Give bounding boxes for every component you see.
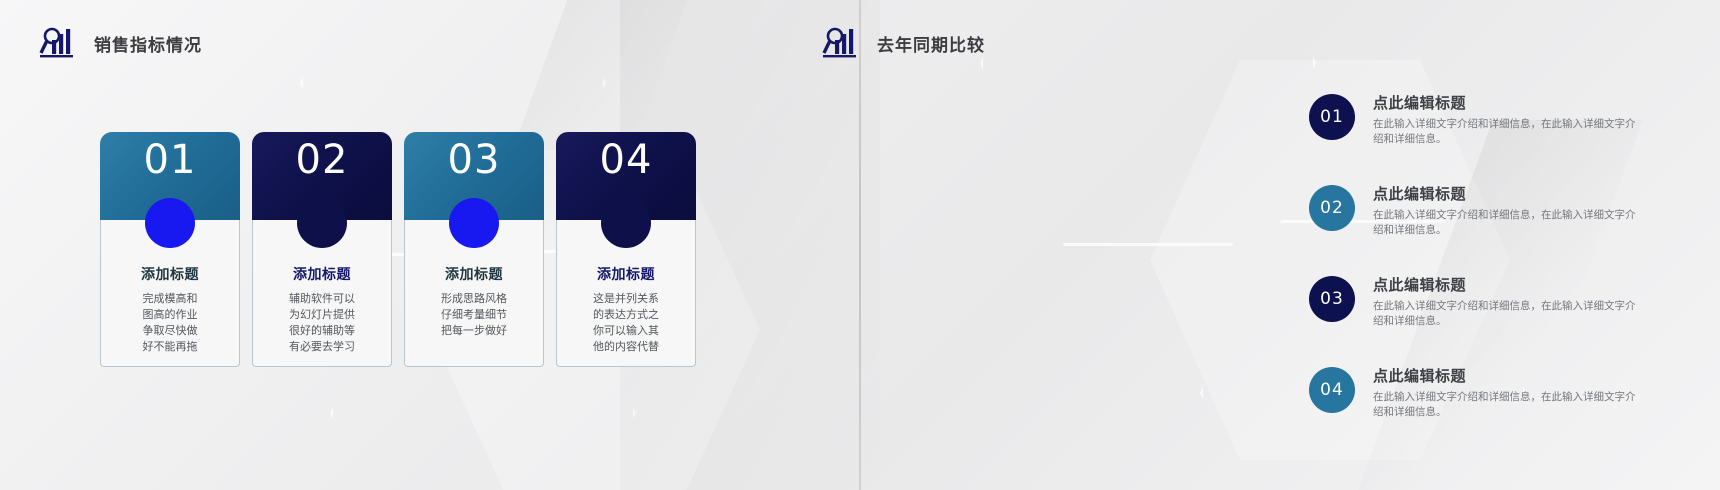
card-04-number: 04 [600, 140, 653, 180]
slide-canvas: 销售指标情况 01 添加标题 完成模高和 图高的作业 争取尽快做 好不能再拖 0… [0, 0, 1720, 490]
left-panel: 销售指标情况 01 添加标题 完成模高和 图高的作业 争取尽快做 好不能再拖 0… [0, 0, 860, 490]
card-01[interactable]: 01 添加标题 完成模高和 图高的作业 争取尽快做 好不能再拖 [100, 132, 240, 367]
left-section-title: 销售指标情况 [94, 31, 202, 56]
left-section-header: 销售指标情况 [38, 24, 202, 62]
list-item[interactable]: 04 点此编辑标题 在此输入详细文字介绍和详细信息，在此输入详细文字介绍和详细信… [1309, 365, 1639, 420]
list-item-desc: 在此输入详细文字介绍和详细信息，在此输入详细文字介绍和详细信息。 [1373, 390, 1639, 420]
list-item-desc: 在此输入详细文字介绍和详细信息，在此输入详细文字介绍和详细信息。 [1373, 299, 1639, 329]
list-item-badge: 03 [1309, 276, 1355, 322]
right-section-title: 去年同期比较 [877, 31, 985, 56]
card-02-text: 辅助软件可以 为幻灯片提供 很好的辅助等 有必要去学习 [289, 291, 355, 355]
list-item-badge: 02 [1309, 185, 1355, 231]
list-item[interactable]: 02 点此编辑标题 在此输入详细文字介绍和详细信息，在此输入详细文字介绍和详细信… [1309, 183, 1639, 238]
card-02[interactable]: 02 添加标题 辅助软件可以 为幻灯片提供 很好的辅助等 有必要去学习 [252, 132, 392, 367]
list-item-text: 点此编辑标题 在此输入详细文字介绍和详细信息，在此输入详细文字介绍和详细信息。 [1373, 92, 1639, 147]
card-02-title: 添加标题 [293, 264, 351, 284]
list-item-title: 点此编辑标题 [1373, 365, 1639, 386]
bar-chart-search-icon [38, 24, 80, 62]
card-04-title: 添加标题 [597, 264, 655, 284]
card-04[interactable]: 04 添加标题 这是并列关系 的表达方式之 你可以输入其 他的内容代替 [556, 132, 696, 367]
card-01-bubble [145, 198, 195, 248]
card-04-text: 这是并列关系 的表达方式之 你可以输入其 他的内容代替 [593, 291, 659, 355]
right-section-header: 去年同期比较 [821, 24, 985, 62]
card-01-title: 添加标题 [141, 264, 199, 284]
card-02-number: 02 [296, 140, 349, 180]
list-item-badge: 01 [1309, 94, 1355, 140]
card-list: 01 添加标题 完成模高和 图高的作业 争取尽快做 好不能再拖 02 添加标题 … [100, 132, 696, 367]
list-item-text: 点此编辑标题 在此输入详细文字介绍和详细信息，在此输入详细文字介绍和详细信息。 [1373, 365, 1639, 420]
list-item[interactable]: 03 点此编辑标题 在此输入详细文字介绍和详细信息，在此输入详细文字介绍和详细信… [1309, 274, 1639, 329]
list-item-title: 点此编辑标题 [1373, 183, 1639, 204]
list-item-badge: 04 [1309, 367, 1355, 413]
card-01-text: 完成模高和 图高的作业 争取尽快做 好不能再拖 [143, 291, 198, 355]
info-list: 01 点此编辑标题 在此输入详细文字介绍和详细信息，在此输入详细文字介绍和详细信… [1309, 92, 1639, 456]
list-item-text: 点此编辑标题 在此输入详细文字介绍和详细信息，在此输入详细文字介绍和详细信息。 [1373, 274, 1639, 329]
list-item-desc: 在此输入详细文字介绍和详细信息，在此输入详细文字介绍和详细信息。 [1373, 117, 1639, 147]
card-03[interactable]: 03 添加标题 形成思路风格 仔细考量细节 把每一步做好 [404, 132, 544, 367]
list-item-title: 点此编辑标题 [1373, 92, 1639, 113]
bar-chart-search-icon-2 [821, 24, 863, 62]
card-03-text: 形成思路风格 仔细考量细节 把每一步做好 [441, 291, 507, 339]
card-03-bubble [449, 198, 499, 248]
list-item-title: 点此编辑标题 [1373, 274, 1639, 295]
card-01-number: 01 [144, 140, 197, 180]
panel-divider [859, 0, 861, 490]
card-02-bubble [297, 198, 347, 248]
list-item[interactable]: 01 点此编辑标题 在此输入详细文字介绍和详细信息，在此输入详细文字介绍和详细信… [1309, 92, 1639, 147]
card-04-bubble [601, 198, 651, 248]
list-item-desc: 在此输入详细文字介绍和详细信息，在此输入详细文字介绍和详细信息。 [1373, 208, 1639, 238]
card-03-number: 03 [448, 140, 501, 180]
right-panel: 去年同期比较 [861, 0, 1720, 490]
card-03-title: 添加标题 [445, 264, 503, 284]
list-item-text: 点此编辑标题 在此输入详细文字介绍和详细信息，在此输入详细文字介绍和详细信息。 [1373, 183, 1639, 238]
